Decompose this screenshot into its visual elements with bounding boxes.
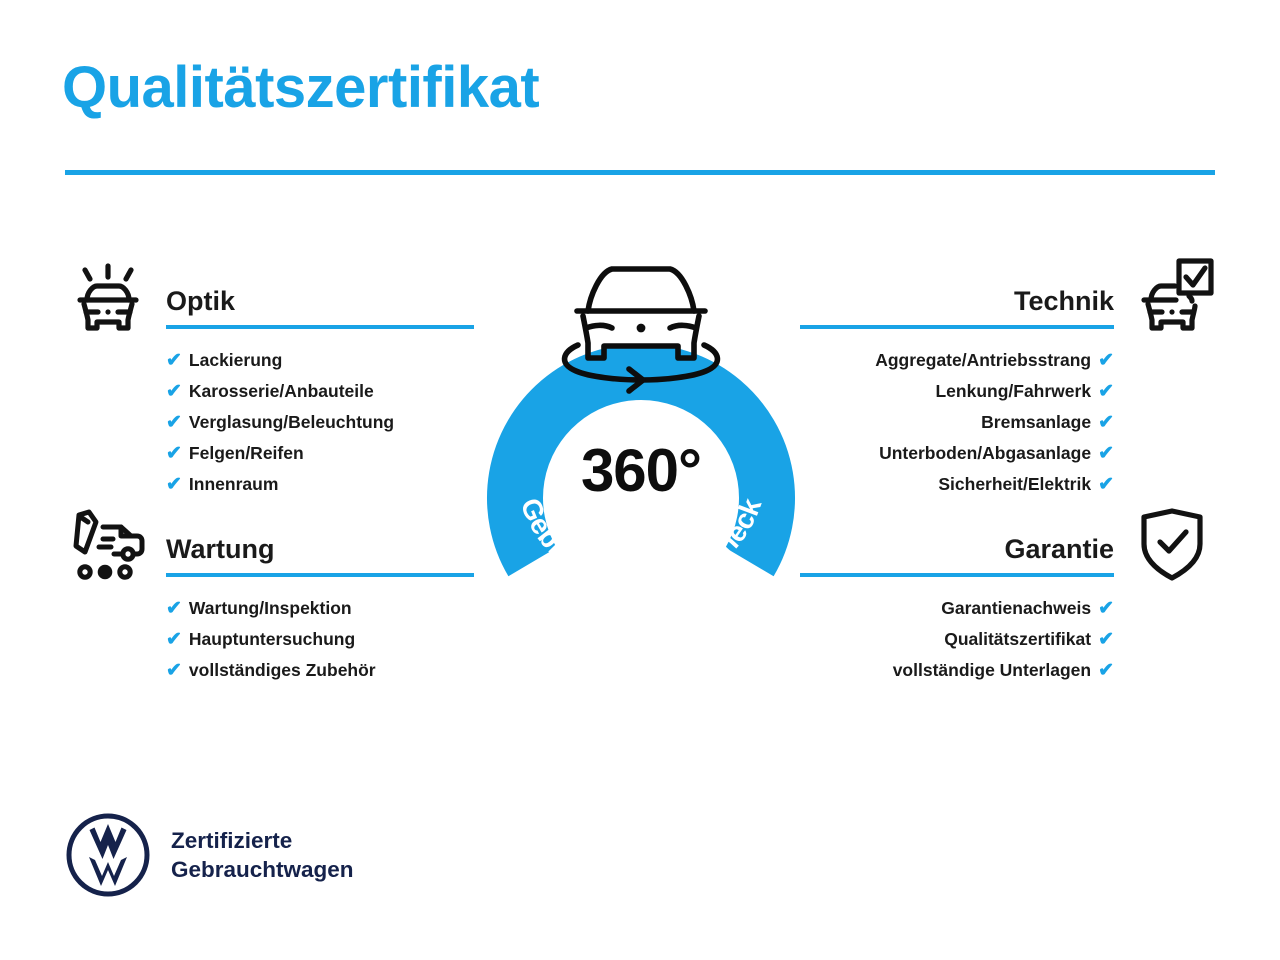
list-item-label: Hauptuntersuchung	[189, 624, 355, 654]
list-item-label: Innenraum	[189, 469, 278, 499]
check-icon: ✔	[166, 625, 182, 655]
section-header: Technik	[800, 255, 1218, 337]
check-icon: ✔	[1098, 346, 1114, 376]
title-divider	[65, 170, 1215, 175]
section-optik: Optik ✔Lackierung ✔Karosserie/Anbauteile…	[62, 255, 474, 500]
list-item-label: Lenkung/Fahrwerk	[935, 376, 1091, 406]
list-item-label: Karosserie/Anbauteile	[189, 376, 374, 406]
section-title: Optik	[166, 286, 235, 317]
list-item-label: Sicherheit/Elektrik	[938, 469, 1091, 499]
list-item-label: Qualitätszertifikat	[944, 624, 1091, 654]
check-icon: ✔	[1098, 656, 1114, 686]
check-icon: ✔	[166, 656, 182, 686]
car-lift-service-icon	[62, 503, 154, 585]
list-item: Garantienachweis✔	[800, 593, 1218, 624]
section-divider	[166, 573, 474, 577]
list-item-label: Felgen/Reifen	[189, 438, 304, 468]
list-item-label: Aggregate/Antriebsstrang	[875, 345, 1091, 375]
list-item: Sicherheit/Elektrik✔	[800, 469, 1218, 500]
list-item: Qualitätszertifikat✔	[800, 624, 1218, 655]
car-shine-icon	[62, 255, 154, 337]
section-title: Garantie	[1004, 534, 1114, 565]
list-item: ✔Verglasung/Beleuchtung	[62, 407, 474, 438]
list-item-label: Lackierung	[189, 345, 282, 375]
check-icon: ✔	[1098, 439, 1114, 469]
checklist: Aggregate/Antriebsstrang✔ Lenkung/Fahrwe…	[800, 345, 1218, 500]
section-divider	[800, 325, 1114, 329]
list-item: Bremsanlage✔	[800, 407, 1218, 438]
check-icon: ✔	[166, 470, 182, 500]
section-divider	[166, 325, 474, 329]
list-item-label: vollständige Unterlagen	[893, 655, 1091, 685]
badge-360-check: Gebrauchtwagen-Check 360°	[466, 250, 816, 620]
ring-label: Gebrauchtwagen-Check	[515, 494, 768, 599]
check-icon: ✔	[166, 439, 182, 469]
list-item: ✔Felgen/Reifen	[62, 438, 474, 469]
section-header: Wartung	[62, 503, 474, 585]
section-wartung: Wartung ✔Wartung/Inspektion ✔Hauptunters…	[62, 503, 474, 686]
list-item: Aggregate/Antriebsstrang✔	[800, 345, 1218, 376]
vw-lockup-line2: Gebrauchtwagen	[171, 855, 354, 884]
car-checkbox-icon	[1126, 255, 1218, 337]
list-item: ✔vollständiges Zubehör	[62, 655, 474, 686]
shield-check-icon	[1126, 503, 1218, 585]
checklist: ✔Lackierung ✔Karosserie/Anbauteile ✔Verg…	[62, 345, 474, 500]
check-icon: ✔	[1098, 594, 1114, 624]
list-item-label: Unterboden/Abgasanlage	[879, 438, 1091, 468]
checklist: Garantienachweis✔ Qualitätszertifikat✔ v…	[800, 593, 1218, 686]
section-divider	[800, 573, 1114, 577]
vw-certified-lockup: Zertifizierte Gebrauchtwagen	[65, 812, 354, 898]
badge-ring-svg: Gebrauchtwagen-Check	[466, 250, 816, 620]
vw-logo	[65, 812, 151, 898]
vw-lockup-text: Zertifizierte Gebrauchtwagen	[171, 826, 354, 884]
vw-lockup-line1: Zertifizierte	[171, 826, 354, 855]
check-icon: ✔	[166, 594, 182, 624]
section-title: Wartung	[166, 534, 274, 565]
check-icon: ✔	[166, 408, 182, 438]
list-item-label: Verglasung/Beleuchtung	[189, 407, 394, 437]
badge-center-label: 360°	[466, 436, 816, 505]
list-item: ✔Lackierung	[62, 345, 474, 376]
list-item: Lenkung/Fahrwerk✔	[800, 376, 1218, 407]
list-item: ✔Hauptuntersuchung	[62, 624, 474, 655]
section-technik: Technik Aggregate/Antriebsstrang✔ Lenkun…	[800, 255, 1218, 500]
check-icon: ✔	[166, 346, 182, 376]
list-item: vollständige Unterlagen✔	[800, 655, 1218, 686]
section-header: Garantie	[800, 503, 1218, 585]
section-title: Technik	[1014, 286, 1114, 317]
list-item-label: Wartung/Inspektion	[189, 593, 352, 623]
list-item: ✔Karosserie/Anbauteile	[62, 376, 474, 407]
check-icon: ✔	[1098, 470, 1114, 500]
list-item-label: Garantienachweis	[941, 593, 1091, 623]
list-item-label: Bremsanlage	[981, 407, 1091, 437]
check-icon: ✔	[1098, 377, 1114, 407]
section-garantie: Garantie Garantienachweis✔ Qualitätszert…	[800, 503, 1218, 686]
list-item: ✔Innenraum	[62, 469, 474, 500]
list-item-label: vollständiges Zubehör	[189, 655, 376, 685]
check-icon: ✔	[1098, 625, 1114, 655]
check-icon: ✔	[166, 377, 182, 407]
checklist: ✔Wartung/Inspektion ✔Hauptuntersuchung ✔…	[62, 593, 474, 686]
list-item: Unterboden/Abgasanlage✔	[800, 438, 1218, 469]
page-title: Qualitätszertifikat	[62, 58, 539, 119]
section-header: Optik	[62, 255, 474, 337]
check-icon: ✔	[1098, 408, 1114, 438]
list-item: ✔Wartung/Inspektion	[62, 593, 474, 624]
